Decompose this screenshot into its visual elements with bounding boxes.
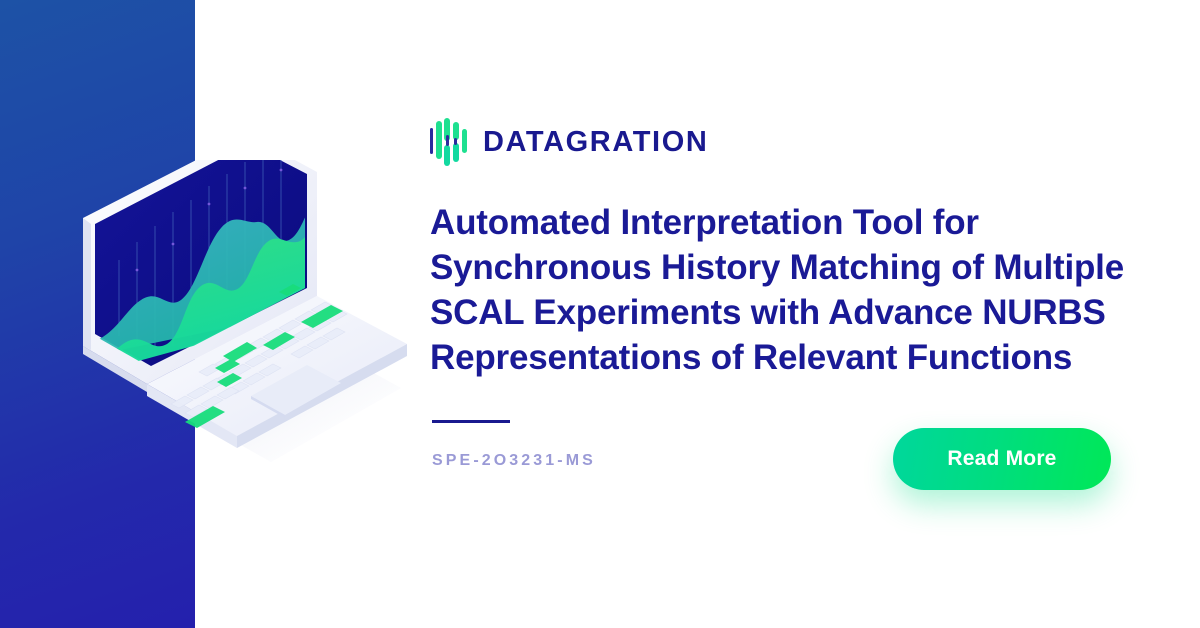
cta-container: Read More — [893, 428, 1111, 490]
title-divider — [432, 420, 510, 423]
content-column: DATAGRATION Automated Interpretation Too… — [430, 0, 1150, 628]
brand-logo[interactable]: DATAGRATION — [430, 118, 708, 166]
promo-card: DATAGRATION Automated Interpretation Too… — [0, 0, 1200, 628]
article-title: Automated Interpretation Tool for Synchr… — [430, 200, 1145, 380]
document-id: SPE-2O3231-MS — [432, 452, 596, 470]
read-more-button[interactable]: Read More — [893, 428, 1111, 490]
bar-chart-logo-icon — [430, 118, 466, 166]
brand-wordmark: DATAGRATION — [483, 126, 708, 159]
isometric-laptop-chart-illustration — [55, 160, 415, 480]
